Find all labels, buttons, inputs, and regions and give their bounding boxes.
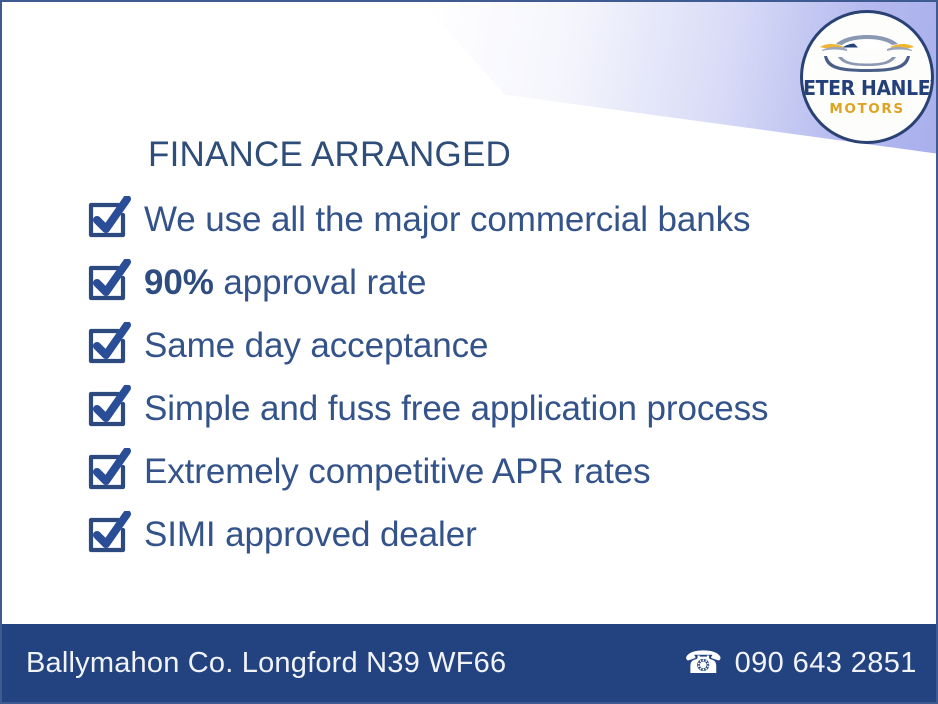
checkbox-checked-icon [82,322,134,370]
feature-list: We use all the major commercial banks 90… [82,188,902,566]
list-item-label: 90% approval rate [144,265,426,300]
logo-brand-sub: MOTORS [829,103,904,117]
checkbox-checked-icon [82,385,134,433]
footer-bar: Ballymahon Co. Longford N39 WF66 ☎ 090 6… [0,624,938,702]
list-item-label: Same day acceptance [144,328,488,363]
list-item: Same day acceptance [82,314,902,377]
list-item: Extremely competitive APR rates [82,440,902,503]
list-item-emphasis: 90% [144,263,214,302]
list-item-label: We use all the major commercial banks [144,202,750,237]
dealer-logo-badge: PETER HANLEY MOTORS [800,10,934,144]
list-item: SIMI approved dealer [82,503,902,566]
list-item-label: Extremely competitive APR rates [144,454,651,489]
footer-phone-number[interactable]: 090 643 2851 [735,649,917,678]
checkbox-checked-icon [82,448,134,496]
list-item-label: Simple and fuss free application process [144,391,768,426]
footer-address: Ballymahon Co. Longford N39 WF66 [26,647,506,680]
checkbox-checked-icon [82,259,134,307]
list-item-label: SIMI approved dealer [144,517,477,552]
checkbox-checked-icon [82,511,134,559]
telephone-icon: ☎ [684,647,723,678]
list-item: We use all the major commercial banks [82,188,902,251]
footer-phone-group[interactable]: ☎ 090 643 2851 [684,649,917,678]
finance-arranged-poster: PETER HANLEY MOTORS FINANCE ARRANGED We … [0,0,938,704]
logo-brand-name: PETER HANLEY [800,78,934,99]
list-item: 90% approval rate [82,251,902,314]
page-title: FINANCE ARRANGED [148,135,511,175]
list-item: Simple and fuss free application process [82,377,902,440]
car-front-icon [814,26,920,76]
checkbox-checked-icon [82,196,134,244]
